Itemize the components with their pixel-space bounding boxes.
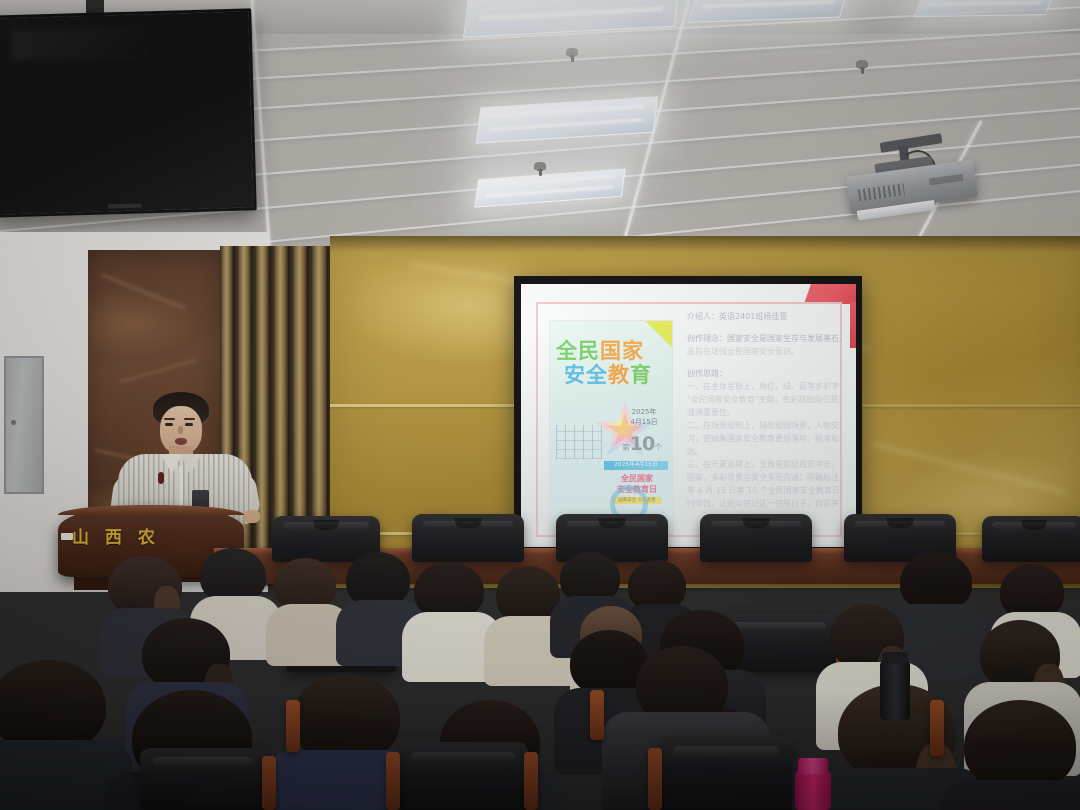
slide-body-line: "全民国家安全教育"主题，色彩跳脱吸引目光， — [687, 393, 842, 406]
poster-ordinal-number: 10 — [630, 433, 654, 455]
black-thermos — [880, 660, 910, 720]
lecture-hall-photo: 全民国家 安全教育 2025年 4月15日 第10个 2025年4月15日 全民… — [0, 0, 1080, 810]
slide-body-line: 时效性，让观众铭记这一特殊日子，自觉关注国 — [687, 497, 842, 510]
poster-title-char: 安 — [564, 359, 586, 389]
slide-body-line: 强调重要性。 — [687, 406, 842, 419]
pink-water-bottle — [795, 770, 831, 810]
chair — [140, 748, 266, 810]
poster-grid-decor — [556, 425, 602, 459]
poster-date-year: 2025年 — [622, 407, 666, 417]
ceiling-light — [474, 168, 625, 207]
slide-concept-label: 创作理念：国家安全是国家生存与发展基石，此作 — [687, 332, 842, 345]
screen-glint — [11, 26, 154, 61]
chair-armrest — [386, 752, 400, 810]
projector-vent — [858, 183, 905, 201]
sprinkler-head — [534, 162, 546, 170]
presenter-nose — [178, 426, 183, 434]
ceiling-light — [476, 96, 658, 144]
presenter-mouth — [175, 438, 187, 445]
slide-corner-accent — [804, 284, 856, 304]
poster-title-char: 育 — [630, 359, 652, 389]
slide-text-column: 介绍人：英语2401班杨佳萱 创作理念：国家安全是国家生存与发展基石，此作 品旨… — [687, 310, 842, 539]
poster-image: 全民国家 安全教育 2025年 4月15日 第10个 2025年4月15日 全民… — [549, 320, 673, 534]
utility-panel — [4, 356, 44, 494]
slide-body-line: 习，使抽象国家安全教育更显落地、贴身知识传 — [687, 432, 842, 445]
sprinkler-head — [856, 60, 868, 68]
wall-top-shadow — [330, 236, 1080, 252]
projection-screen-frame: 全民国家 安全教育 2025年 4月15日 第10个 2025年4月15日 全民… — [514, 276, 862, 552]
slide-body-line: 国家，多彩背景呈安全多元内涵；明确标注 2025 — [687, 471, 842, 484]
lectern-inscription: 山 西 农 — [72, 523, 160, 548]
poster-ordinal-suffix: 个 — [654, 443, 662, 452]
poster-title-line2: 安全教育 — [564, 359, 673, 389]
poster-title-char: 教 — [608, 359, 630, 389]
chair-armrest — [648, 748, 662, 810]
poster-ordinal: 第10个 — [616, 433, 668, 455]
projection-screen: 全民国家 安全教育 2025年 4月15日 第10个 2025年4月15日 全民… — [521, 284, 856, 547]
projector-label — [929, 174, 964, 186]
microphone-icon — [158, 472, 164, 484]
poster-title-char: 全 — [586, 359, 608, 389]
slide-body-line: 三、在元素运用上，五角星彰显视觉冲击，象征 — [687, 458, 842, 471]
chair — [556, 514, 668, 562]
slide-body-line: 一、在主体呈现上，用红、绿、蓝等多彩字体凸显 — [687, 380, 842, 393]
wall-display — [0, 8, 257, 217]
slide-approach-label: 创作思路： — [687, 367, 842, 380]
tv-logo — [108, 203, 142, 208]
chair — [412, 514, 524, 562]
chair-armrest — [286, 700, 300, 752]
presenter-hand — [244, 510, 260, 523]
slide-heading: 介绍人：英语2401班杨佳萱 — [687, 310, 842, 323]
chair — [660, 736, 792, 810]
chair-armrest — [262, 756, 276, 810]
chair-armrest — [930, 700, 944, 756]
slide-body-line: 二、在场景绘制上，描绘校园场景，人物交流学 — [687, 419, 842, 432]
presenter — [112, 392, 262, 522]
chair-armrest — [524, 752, 538, 810]
chair — [982, 516, 1080, 562]
bottle-cap — [798, 758, 828, 774]
chair — [700, 514, 812, 562]
slide-body-line: 达。 — [687, 445, 842, 458]
chair-armrest — [590, 690, 604, 740]
poster-date: 2025年 4月15日 — [622, 407, 666, 427]
slide-corner-accent-bar — [850, 302, 856, 348]
poster-date-day: 4月15日 — [622, 417, 666, 427]
poster-ordinal-prefix: 第 — [622, 443, 630, 452]
chair — [398, 742, 528, 810]
slide-concept-line2: 品旨在增强全民国家安全意识。 — [687, 345, 842, 358]
thermos-cap — [882, 652, 908, 664]
ceiling-light — [914, 0, 1058, 17]
slide-body-line: 年 4 月 15 日第 10 个全民国家安全教育日，增强 — [687, 484, 842, 497]
